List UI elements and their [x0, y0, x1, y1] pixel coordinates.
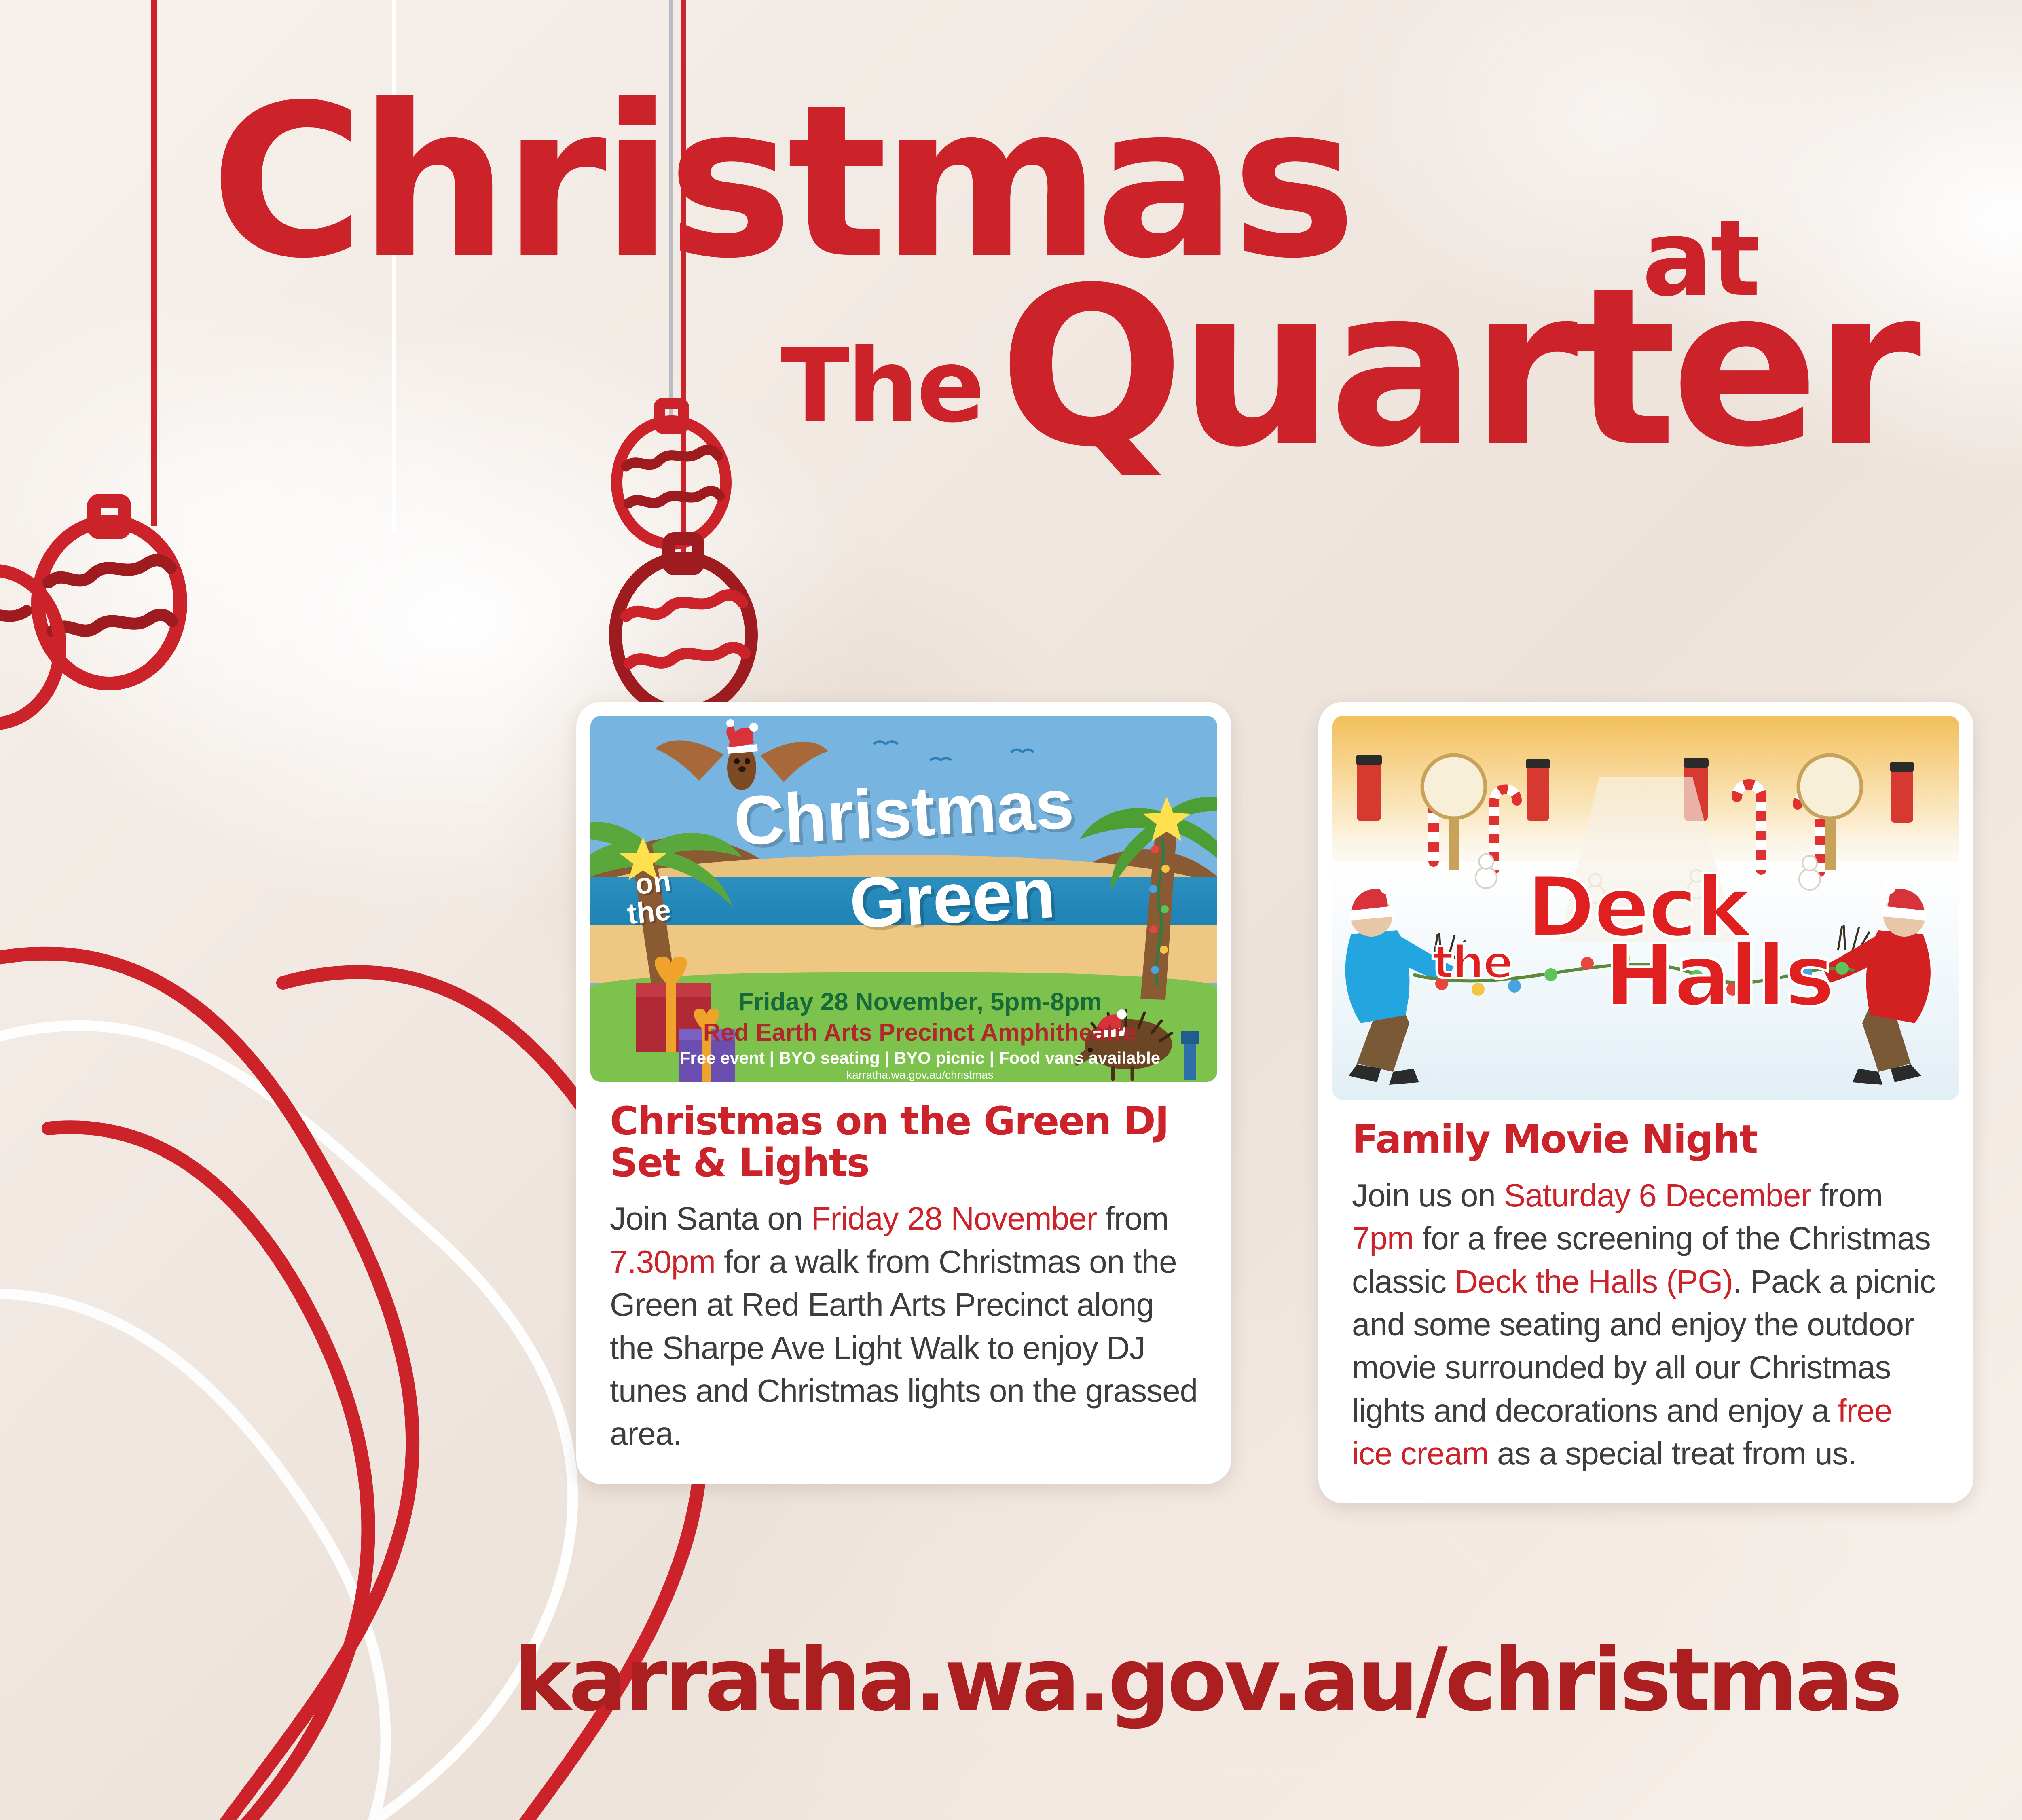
card-text-family-movie-night: Join us on Saturday 6 December from 7pm … [1352, 1174, 1940, 1475]
poster-canvas: Christmas at The Quarter [0, 0, 2022, 1820]
headline-word-the: The [780, 336, 983, 437]
footer: karratha.wa.gov.au/christmas City of Kar… [0, 1622, 2022, 1759]
poster1-date: Friday 28 November, 5pm-8pm [607, 988, 1217, 1016]
poster1-url: karratha.wa.gov.au/christmas [607, 1069, 1217, 1081]
event-card-family-movie-night[interactable]: Deck the Halls Family Movie Night Join u… [1318, 702, 1973, 1503]
poster-deck-the-halls: Deck the Halls [1332, 716, 1959, 1100]
card-title-christmas-on-the-green: Christmas on the Green DJ Set & Lights [610, 1100, 1198, 1183]
event-card-list: Christmas on the Green 2025 Friday 28 No… [576, 702, 2022, 1503]
page-title: Christmas at The Quarter [0, 73, 2022, 639]
poster-christmas-on-the-green: Christmas on the Green 2025 Friday 28 No… [590, 716, 1217, 1082]
website-url[interactable]: karratha.wa.gov.au/christmas [514, 1629, 1900, 1731]
poster1-info: Free event | BYO seating | BYO picnic | … [607, 1048, 1217, 1068]
poster2-title-halls: Halls [1405, 926, 1959, 1025]
card-text-christmas-on-the-green: Join Santa on Friday 28 November from 7.… [610, 1197, 1198, 1455]
poster1-venue: Red Earth Arts Precinct Amphitheatre [607, 1018, 1217, 1046]
headline-word-quarter: Quarter [999, 259, 1916, 477]
event-card-christmas-on-the-green[interactable]: Christmas on the Green 2025 Friday 28 No… [576, 702, 1231, 1484]
card-title-family-movie-night: Family Movie Night [1352, 1119, 1940, 1160]
